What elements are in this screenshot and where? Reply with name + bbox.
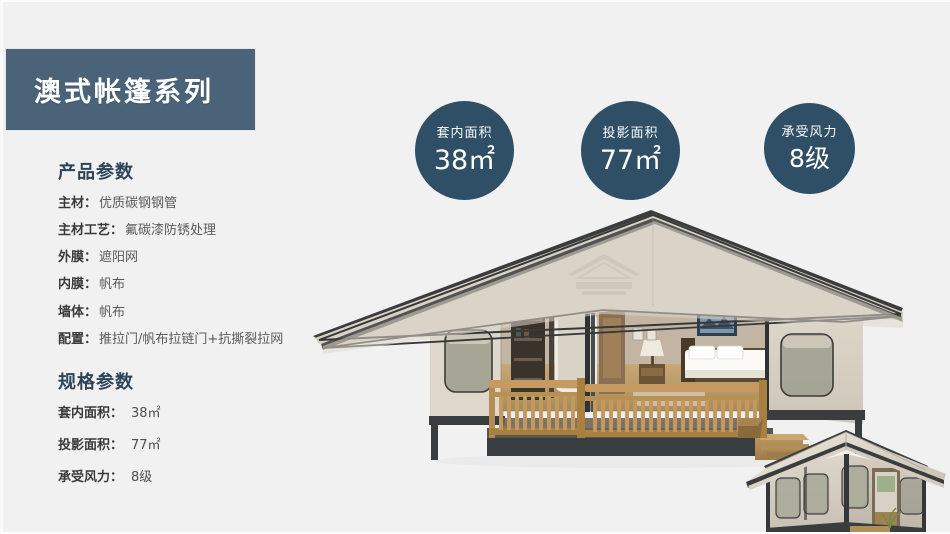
product-params-heading: 产品参数 bbox=[58, 162, 378, 184]
param-value: 帆布 bbox=[99, 277, 125, 292]
thumbnail-tent-image bbox=[738, 416, 950, 534]
stat-circle-wind-resistance: 承受风力 8级 bbox=[764, 103, 855, 194]
stat-label: 承受风力 bbox=[781, 126, 837, 139]
param-label: 墙体： bbox=[58, 305, 97, 320]
page-title: 澳式帐篷系列 bbox=[34, 70, 214, 109]
stat-circle-projected-area: 投影面积 77㎡ bbox=[581, 101, 680, 200]
stat-unit: ㎡ bbox=[634, 145, 661, 176]
param-value: 遮阳网 bbox=[99, 250, 138, 265]
param-value: 氟碳漆防锈处理 bbox=[125, 223, 216, 238]
stat-number: 77 bbox=[600, 145, 634, 176]
spec-label: 投影面积： bbox=[58, 438, 123, 453]
spec-label: 套内面积： bbox=[58, 406, 123, 421]
spec-value: 38㎡ bbox=[131, 406, 161, 421]
title-banner: 澳式帐篷系列 bbox=[6, 49, 255, 130]
spec-label: 承受风力： bbox=[58, 470, 123, 485]
param-value: 推拉门/帆布拉链门+抗撕裂拉网 bbox=[99, 332, 283, 347]
param-label: 主材工艺： bbox=[58, 223, 123, 238]
param-value: 帆布 bbox=[99, 305, 125, 320]
stat-value: 8级 bbox=[789, 146, 830, 171]
param-label: 外膜： bbox=[58, 250, 97, 265]
stat-number: 8级 bbox=[789, 144, 830, 173]
spec-value: 8级 bbox=[131, 470, 152, 485]
slide-canvas: 澳式帐篷系列 产品参数 主材：优质碳钢钢管 主材工艺：氟碳漆防锈处理 外膜：遮阳… bbox=[0, 0, 950, 534]
param-label: 主材： bbox=[58, 196, 97, 211]
spec-value: 77㎡ bbox=[131, 438, 161, 453]
stat-number: 38 bbox=[434, 145, 468, 176]
stat-label: 套内面积 bbox=[436, 127, 492, 140]
stat-circle-interior-area: 套内面积 38㎡ bbox=[415, 101, 514, 200]
stat-value: 38㎡ bbox=[434, 147, 495, 174]
stat-value: 77㎡ bbox=[600, 147, 661, 174]
param-value: 优质碳钢钢管 bbox=[99, 196, 177, 211]
param-label: 内膜： bbox=[58, 277, 97, 292]
param-label: 配置： bbox=[58, 332, 97, 347]
stat-unit: ㎡ bbox=[468, 145, 495, 176]
stat-label: 投影面积 bbox=[602, 127, 658, 140]
